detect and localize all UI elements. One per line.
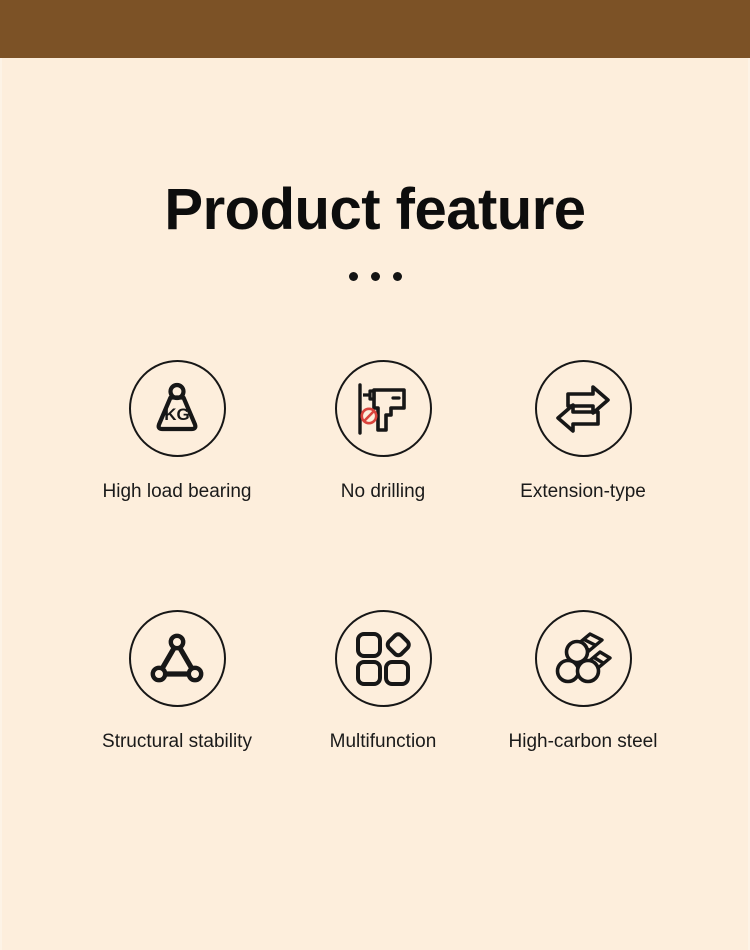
steel-bundle-icon (535, 610, 632, 707)
top-brown-bar (0, 0, 750, 58)
weight-kg-icon: KG (129, 360, 226, 457)
decorative-dot (349, 272, 358, 281)
prohibition-slash (364, 411, 374, 421)
feature-label: Structural stability (102, 731, 252, 753)
feature-cell-multifunction: Multifunction (283, 610, 483, 753)
feature-cell-high-carbon-steel: High-carbon steel (483, 610, 683, 753)
feature-cell-structural-stability: Structural stability (77, 610, 277, 753)
bidirectional-arrow-icon (535, 360, 632, 457)
feature-label: High-carbon steel (509, 731, 658, 753)
feature-row-2: Structural stability Multifunction (0, 610, 750, 753)
feature-grid: KG High load bearing No drillin (0, 360, 750, 753)
feature-label: High load bearing (103, 481, 252, 503)
triangle-nodes-icon (129, 610, 226, 707)
feature-cell-high-load-bearing: KG High load bearing (77, 360, 277, 503)
decorative-dot (371, 272, 380, 281)
weight-icon-text: KG (164, 405, 190, 424)
no-drilling-icon (335, 360, 432, 457)
title-dots-decoration (0, 272, 750, 281)
feature-cell-extension-type: Extension-type (483, 360, 683, 503)
feature-label: Extension-type (520, 481, 646, 503)
product-feature-page: Product feature KG High load bearing (0, 0, 750, 950)
feature-row-1: KG High load bearing No drillin (0, 360, 750, 503)
page-title: Product feature (0, 176, 750, 244)
four-shapes-icon (335, 610, 432, 707)
feature-label: No drilling (341, 481, 425, 503)
feature-label: Multifunction (330, 731, 437, 753)
decorative-dot (393, 272, 402, 281)
feature-cell-no-drilling: No drilling (283, 360, 483, 503)
